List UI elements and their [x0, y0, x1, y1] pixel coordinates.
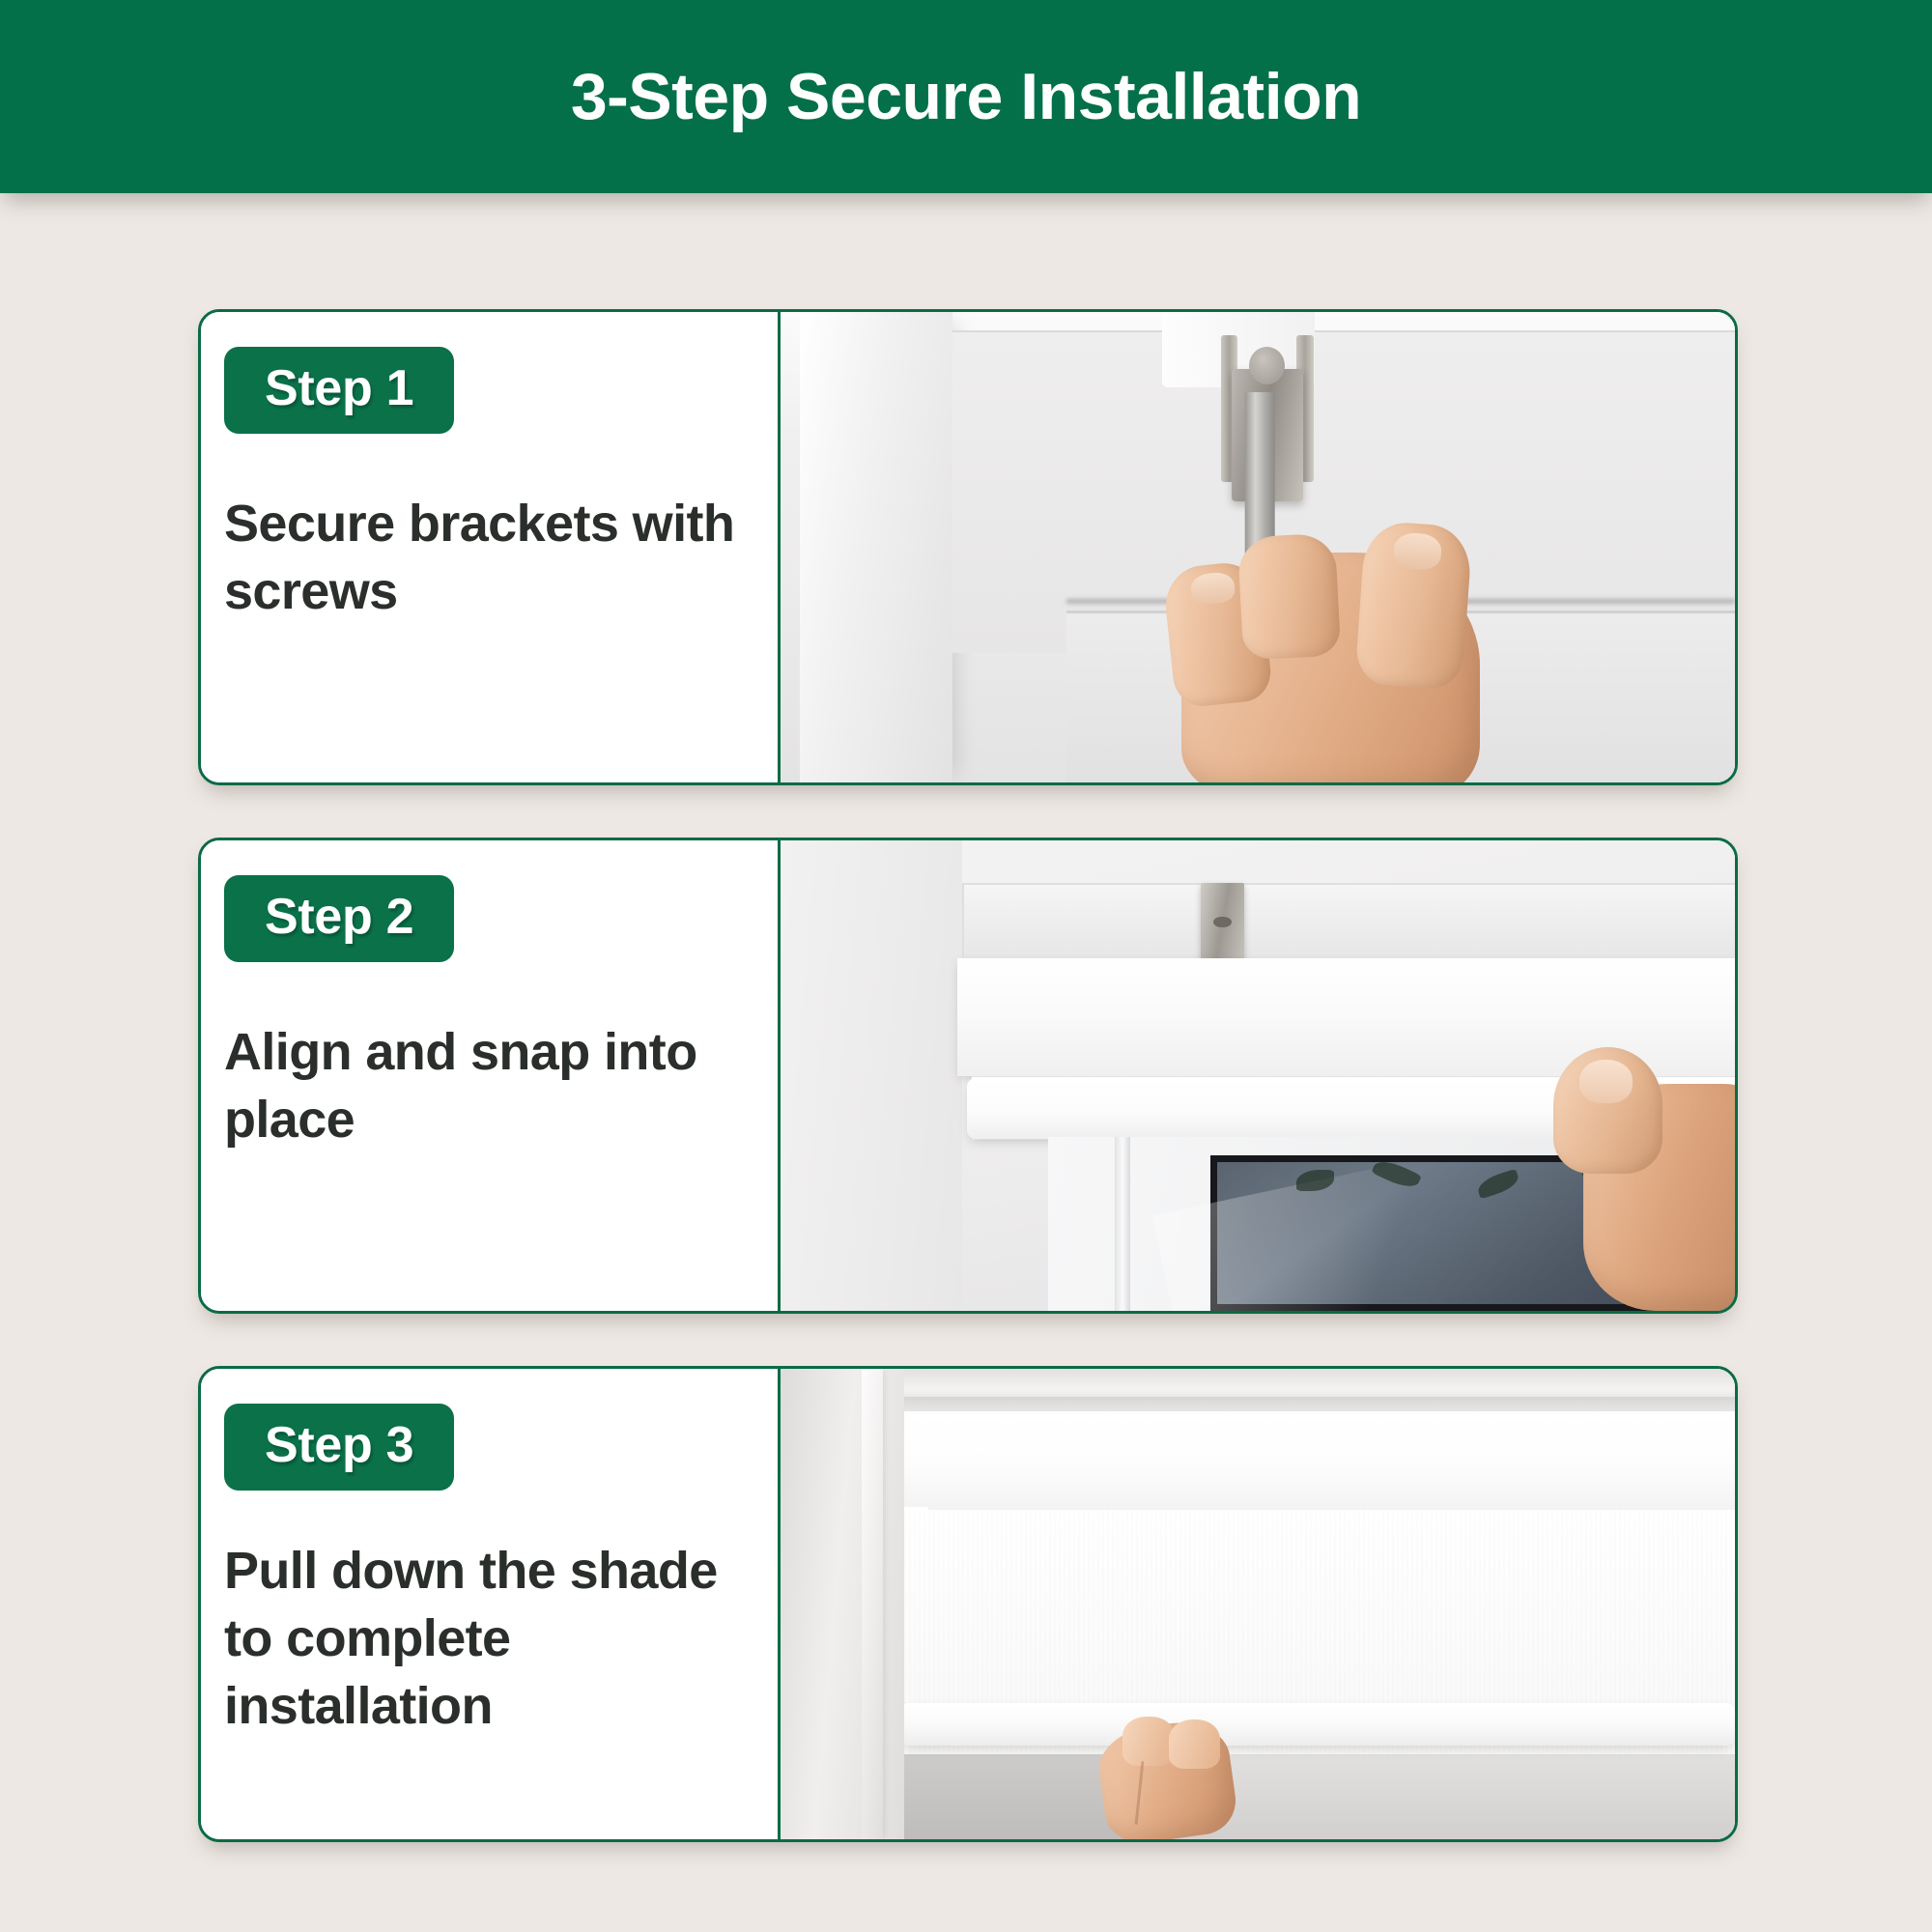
finger-middle — [1237, 532, 1341, 660]
window-mullion — [1115, 1137, 1130, 1311]
step-1-description: Secure brackets with screws — [224, 490, 778, 625]
hand-pulling-shade — [1086, 1717, 1238, 1839]
step-3-photo — [781, 1369, 1735, 1839]
step-1-badge: Step 1 — [224, 347, 454, 434]
step-2-text-pane: Step 2 Align and snap into place — [201, 840, 781, 1311]
finger-middle — [1169, 1719, 1221, 1769]
page-title: 3-Step Secure Installation — [571, 64, 1361, 129]
step-2-badge: Step 2 — [224, 875, 454, 962]
step-2-description: Align and snap into place — [224, 1018, 778, 1153]
step-card-2[interactable]: Step 2 Align and snap into place — [198, 838, 1738, 1314]
window-recess — [962, 883, 1735, 965]
step-card-3[interactable]: Step 3 Pull down the shade to complete i… — [198, 1366, 1738, 1842]
step-2-photo — [781, 840, 1735, 1311]
steps-list: Step 1 Secure brackets with screws — [0, 193, 1932, 1932]
hand-snapping-shade — [1553, 1047, 1735, 1311]
step-1-text-pane: Step 1 Secure brackets with screws — [201, 312, 781, 782]
finger-index — [1122, 1717, 1175, 1766]
window-casing-bead — [862, 1369, 883, 1839]
thumb — [1354, 520, 1472, 690]
window-casing-left — [781, 1369, 904, 1839]
fingernail — [1190, 571, 1236, 606]
shade-headrail — [895, 1411, 1735, 1515]
wall-left — [781, 840, 962, 1311]
step-1-photo — [781, 312, 1735, 782]
hand-holding-screwdriver — [1162, 500, 1487, 782]
step-3-badge: Step 3 — [224, 1404, 454, 1491]
page-header: 3-Step Secure Installation — [0, 0, 1932, 193]
thumb — [1553, 1047, 1662, 1174]
shade-bottom-rail — [900, 1703, 1736, 1746]
step-3-text-pane: Step 3 Pull down the shade to complete i… — [201, 1369, 781, 1839]
step-3-description: Pull down the shade to complete installa… — [224, 1537, 778, 1741]
window-jamb-left — [800, 312, 952, 782]
thumbnail — [1393, 532, 1442, 571]
mounted-bracket-icon — [1201, 883, 1244, 963]
step-card-1[interactable]: Step 1 Secure brackets with screws — [198, 309, 1738, 785]
